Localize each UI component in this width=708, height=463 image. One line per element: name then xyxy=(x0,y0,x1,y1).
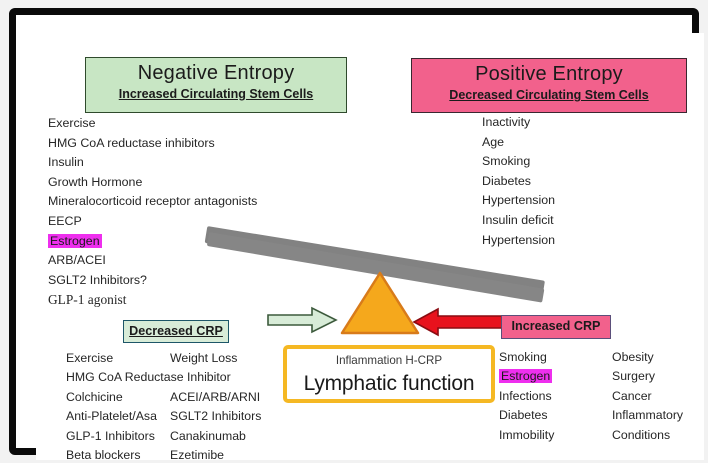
list-cell: Colchicine xyxy=(66,388,123,407)
list-cell: Smoking xyxy=(499,348,547,367)
list-item: Diabetes xyxy=(482,172,555,192)
list-cell: GLP-1 Inhibitors xyxy=(66,427,155,446)
list-cell: Exercise xyxy=(66,349,113,368)
positive-entropy-list: InactivityAgeSmokingDiabetesHypertension… xyxy=(482,113,555,250)
callout-small-label: Inflammation H-CRP xyxy=(287,349,491,370)
list-cell: Ezetimibe xyxy=(170,446,224,460)
negative-entropy-title: Negative Entropy xyxy=(86,61,346,86)
list-cell: Beta blockers xyxy=(66,446,141,460)
increased-crp-tag: Increased CRP xyxy=(501,315,611,339)
decreased-crp-tag: Decreased CRP xyxy=(123,320,229,343)
list-item: GLP-1 agonist xyxy=(48,290,257,310)
list-item: Mineralocorticoid receptor antagonists xyxy=(48,192,257,212)
list-cell: Immobility xyxy=(499,426,554,445)
list-item: Growth Hormone xyxy=(48,173,257,193)
highlighted-term: Estrogen xyxy=(48,234,102,248)
list-item: Exercise xyxy=(48,114,257,134)
slide-frame: Negative Entropy Increased Circulating S… xyxy=(9,8,699,455)
list-item: Inactivity xyxy=(482,113,555,133)
fulcrum-triangle-icon xyxy=(340,271,420,336)
list-cell: ACEI/ARB/ARNI xyxy=(170,388,260,407)
list-cell: Obesity xyxy=(612,348,654,367)
increased-crp-arrow-icon xyxy=(412,307,504,337)
slide-content: Negative Entropy Increased Circulating S… xyxy=(36,33,704,460)
list-item: Age xyxy=(482,133,555,153)
list-cell: Canakinumab xyxy=(170,427,246,446)
list-cell: Weight Loss xyxy=(170,349,237,368)
list-item: Hypertension xyxy=(482,231,555,251)
list-item: ARB/ACEI xyxy=(48,251,257,271)
negative-entropy-subtitle: Increased Circulating Stem Cells xyxy=(86,86,346,103)
list-item: HMG CoA reductase inhibitors xyxy=(48,134,257,154)
list-cell: Inflammatory xyxy=(612,406,683,425)
list-item: Insulin xyxy=(48,153,257,173)
positive-entropy-subtitle: Decreased Circulating Stem Cells xyxy=(412,87,686,104)
list-cell: SGLT2 Inhibitors xyxy=(170,407,261,426)
diagram-canvas: Negative Entropy Increased Circulating S… xyxy=(0,0,708,463)
list-cell: Anti-Platelet/Asa xyxy=(66,407,157,426)
list-cell: Estrogen xyxy=(499,367,552,386)
lymphatic-function-callout: Inflammation H-CRP Lymphatic function xyxy=(283,345,495,403)
highlighted-term: Estrogen xyxy=(499,369,552,383)
list-item: Hypertension xyxy=(482,191,555,211)
negative-entropy-list: ExerciseHMG CoA reductase inhibitorsInsu… xyxy=(48,114,257,310)
callout-big-label: Lymphatic function xyxy=(287,370,491,398)
list-cell: HMG CoA Reductase Inhibitor xyxy=(66,368,231,387)
list-item: Insulin deficit xyxy=(482,211,555,231)
decreased-crp-arrow-icon xyxy=(266,305,338,335)
list-cell: Surgery xyxy=(612,367,655,386)
list-cell: Infections xyxy=(499,387,552,406)
positive-entropy-header: Positive Entropy Decreased Circulating S… xyxy=(411,58,687,113)
list-item: Smoking xyxy=(482,152,555,172)
list-cell: Cancer xyxy=(612,387,652,406)
negative-entropy-header: Negative Entropy Increased Circulating S… xyxy=(85,57,347,113)
list-cell: Conditions xyxy=(612,426,670,445)
list-cell: Diabetes xyxy=(499,406,548,425)
list-item: SGLT2 Inhibitors? xyxy=(48,271,257,291)
positive-entropy-title: Positive Entropy xyxy=(412,62,686,87)
